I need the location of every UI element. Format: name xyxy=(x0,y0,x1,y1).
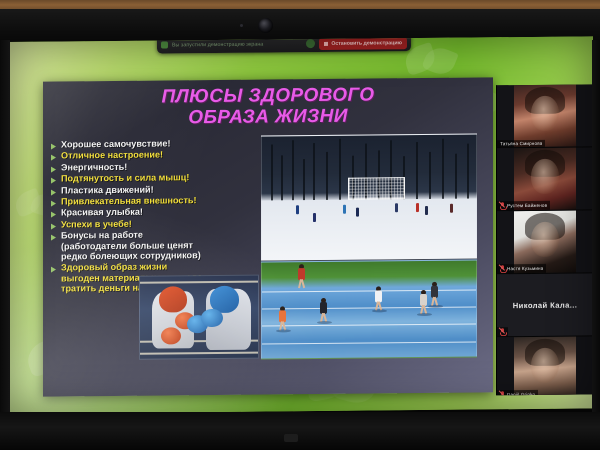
bullet-text: Привлекательная внешность! xyxy=(61,195,197,207)
participant-namebar: Рустем Байженов xyxy=(497,201,550,211)
participant-name: Настя Кузьмина xyxy=(507,266,543,271)
participant-tile[interactable]: Настя Кузьмина xyxy=(497,210,593,274)
laptop-bezel-bottom xyxy=(0,412,600,450)
list-item: Хорошее самочувствие! xyxy=(51,137,281,150)
bullet-triangle-icon xyxy=(51,223,56,229)
laptop-bezel-right xyxy=(592,40,600,440)
mic-muted-icon xyxy=(500,328,505,335)
participant-namebar xyxy=(497,327,508,336)
stop-square-icon xyxy=(324,41,328,45)
mic-muted-icon xyxy=(500,265,505,272)
participant-tile[interactable]: Николай Кала... xyxy=(497,273,593,337)
person-figure xyxy=(313,213,316,222)
participant-name: Рустем Байженов xyxy=(507,203,547,208)
stop-share-button[interactable]: Остановить демонстрацию xyxy=(319,37,407,50)
person-figure xyxy=(296,206,299,215)
slide-bullet-list: Хорошее самочувствие! Отличное настроени… xyxy=(51,137,281,295)
participant-namebar: Daniil Grinko xyxy=(497,390,538,395)
bullet-text: Отличное настроение! xyxy=(61,150,163,161)
presentation-slide: ПЛЮСЫ ЗДОРОВОГО ОБРАЗА ЖИЗНИ Хорошее сам… xyxy=(43,77,493,396)
person-figure xyxy=(356,208,359,217)
list-item: Отличное настроение! xyxy=(51,149,281,162)
bullet-text: Энергичность! xyxy=(61,162,127,173)
person-figure xyxy=(416,203,419,212)
slide-title: ПЛЮСЫ ЗДОРОВОГО ОБРАЗА ЖИЗНИ xyxy=(43,83,493,129)
participant-namebar: Настя Кузьмина xyxy=(497,264,546,273)
bullet-text: Успехи в учебе! xyxy=(61,219,132,230)
person-figure xyxy=(450,204,453,213)
slide-title-line-2: ОБРАЗА ЖИЗНИ xyxy=(43,104,493,129)
bullet-text: Красивая улыбка! xyxy=(61,207,143,218)
webcam-icon xyxy=(258,18,273,33)
screen-share-indicator-icon xyxy=(161,41,168,48)
person-figure xyxy=(395,203,398,212)
share-status-text: Вы запустили демонстрацию экрана xyxy=(172,41,302,48)
bullet-triangle-icon xyxy=(51,235,56,241)
bullet-text: Хорошее самочувствие! xyxy=(61,138,170,149)
boxing-glove-blue xyxy=(201,309,222,327)
boxer-red-headgear xyxy=(159,286,187,313)
runner-figure xyxy=(279,306,286,330)
mic-muted-icon xyxy=(500,391,505,395)
runner-figure xyxy=(320,298,327,322)
bullet-triangle-icon xyxy=(51,201,56,207)
participant-name: Николай Кала... xyxy=(513,300,577,310)
winter-field-photo xyxy=(261,133,477,261)
list-item: Привлекательная внешность! xyxy=(51,194,281,207)
bullet-text: Пластика движений! xyxy=(61,184,154,195)
avatar xyxy=(514,337,576,396)
list-item: Подтянутость и сила мышц! xyxy=(51,172,281,185)
bullet-triangle-icon xyxy=(51,155,56,161)
person-figure xyxy=(425,206,428,215)
running-track-photo xyxy=(261,259,477,359)
bullet-triangle-icon xyxy=(51,189,56,195)
person-figure xyxy=(343,205,346,214)
participant-video-rail[interactable]: Татьяна Смирнова Рустем Байженов Н xyxy=(496,84,593,395)
stop-share-label: Остановить демонстрацию xyxy=(331,40,402,47)
participant-name: Татьяна Смирнова xyxy=(500,141,542,146)
bullet-triangle-icon xyxy=(51,267,56,273)
participant-tile[interactable]: Daniil Grinko xyxy=(497,336,593,395)
boxing-photo xyxy=(139,275,259,360)
bullet-triangle-icon xyxy=(51,166,56,172)
avatar xyxy=(514,85,576,148)
mic-muted-icon xyxy=(500,202,505,209)
laptop-photo: Вы запустили демонстрацию экрана Останов… xyxy=(0,0,600,450)
participant-tile[interactable]: Татьяна Смирнова xyxy=(497,84,593,148)
list-item: Красивая улыбка! xyxy=(51,206,281,219)
goal-net xyxy=(348,177,406,199)
list-item: Пластика движений! xyxy=(51,183,281,196)
runner-figure xyxy=(298,264,305,288)
participant-tile[interactable]: Рустем Байженов xyxy=(497,147,593,211)
bullet-triangle-icon xyxy=(51,144,56,150)
runner-figure xyxy=(431,282,438,306)
list-item: Энергичность! xyxy=(51,160,281,173)
webcam-led-icon xyxy=(240,24,243,27)
laptop-bezel-left xyxy=(0,40,10,440)
bullet-text: Подтянутость и сила мышц! xyxy=(61,172,189,184)
bullet-triangle-icon xyxy=(51,212,56,218)
bullet-triangle-icon xyxy=(51,178,56,184)
laptop-screen: Вы запустили демонстрацию экрана Останов… xyxy=(7,36,593,414)
participant-name: Daniil Grinko xyxy=(507,392,535,395)
bullet-text: Бонусы на работе (работодатели больше це… xyxy=(61,229,201,262)
participant-namebar: Татьяна Смирнова xyxy=(497,140,545,147)
list-item: Успехи в учебе! xyxy=(51,217,281,230)
runner-figure xyxy=(375,286,382,310)
list-item: Бонусы на работе (работодатели больше це… xyxy=(51,229,281,262)
runner-figure xyxy=(420,290,427,314)
share-menu-icon[interactable] xyxy=(306,39,315,48)
snow-field xyxy=(262,199,476,261)
